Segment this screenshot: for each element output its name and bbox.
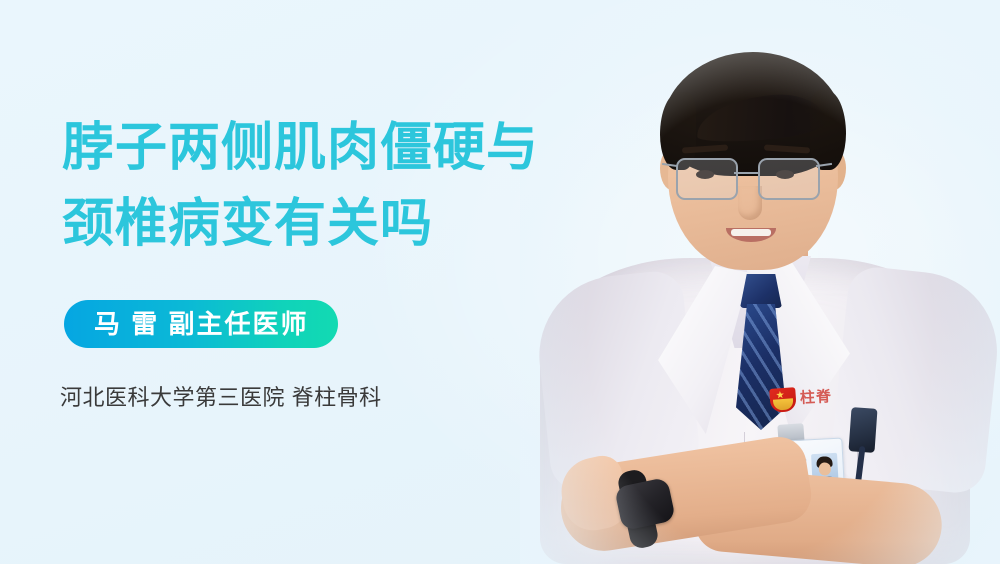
pin-gold-base: [773, 398, 794, 410]
headline-line-1: 脖子两侧肌肉僵硬与: [62, 110, 662, 186]
coat-embroidery-text: 柱脊: [799, 385, 832, 408]
eyeglasses-bridge: [734, 172, 758, 174]
necktie-knot: [740, 274, 782, 308]
headline-line-2: 颈椎病变有关吗: [62, 186, 662, 262]
doctor-affiliation: 河北医科大学第三医院 脊柱骨科: [60, 380, 382, 412]
doctor-name-badge: 马 雷 副主任医师: [64, 300, 338, 348]
title-block: 脖子两侧肌肉僵硬与 颈椎病变有关吗: [62, 110, 662, 262]
id-photo-face: [818, 462, 831, 476]
doctor-portrait-photo: ★ 柱脊 共产党员: [520, 0, 1000, 564]
eyeglasses-lens-right: [758, 158, 820, 200]
doctor-name-title: 马 雷 副主任医师: [94, 311, 308, 337]
eyeglasses-lens-left: [676, 158, 738, 200]
teeth: [731, 229, 771, 236]
video-thumbnail-card: ★ 柱脊 共产党员: [0, 0, 1000, 564]
